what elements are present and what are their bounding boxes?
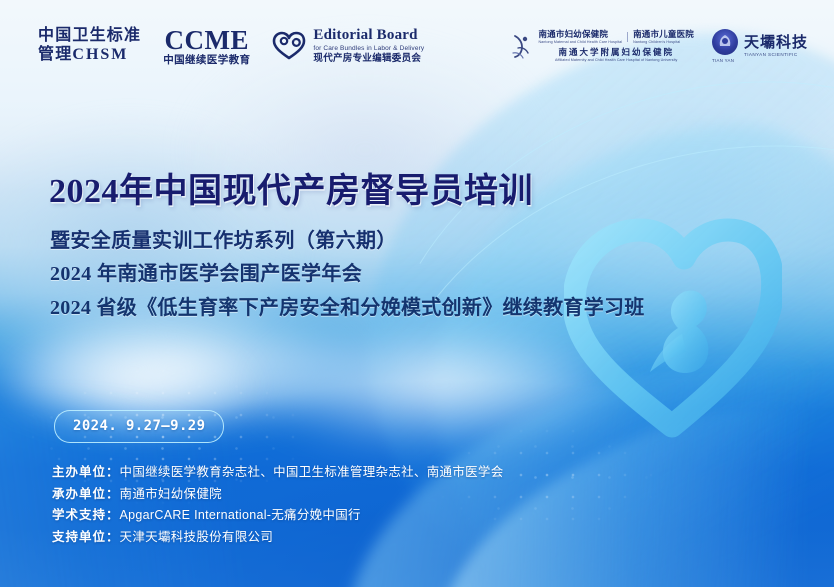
poster-subtitle-3: 2024 省级《低生育率下产房安全和分娩模式创新》继续教育学习班 [50, 291, 645, 320]
conference-poster: 中国卫生标准 管理CHSM CCME 中国继续医学教育 [0, 0, 834, 587]
credit-label: 学术支持： [52, 505, 120, 527]
credit-row-academic-support: 学术支持： ApgarCARE International-无痛分娩中国行 [52, 505, 504, 527]
credit-row-host: 承办单位： 南通市妇幼保健院 [52, 484, 504, 506]
poster-subtitle-1: 暨安全质量实训工作坊系列（第六期） [50, 224, 397, 253]
credit-value: ApgarCARE International-无痛分娩中国行 [120, 505, 361, 527]
credit-row-supporting-unit: 支持单位： 天津天壩科技股份有限公司 [52, 527, 504, 549]
credit-value: 中国继续医学教育杂志社、中国卫生标准管理杂志社、南通市医学会 [120, 462, 504, 484]
credit-label: 支持单位： [52, 527, 120, 549]
credit-value: 南通市妇幼保健院 [120, 484, 222, 506]
poster-content: 2024年中国现代产房督导员培训 暨安全质量实训工作坊系列（第六期） 2024 … [0, 0, 834, 587]
credit-row-organizer: 主办单位： 中国继续医学教育杂志社、中国卫生标准管理杂志社、南通市医学会 [52, 462, 504, 484]
credit-label: 主办单位： [52, 462, 120, 484]
credits-block: 主办单位： 中国继续医学教育杂志社、中国卫生标准管理杂志社、南通市医学会 承办单… [52, 462, 504, 548]
credit-label: 承办单位： [52, 484, 120, 506]
poster-title: 2024年中国现代产房督导员培训 [49, 163, 533, 212]
poster-subtitle-2: 2024 年南通市医学会围产医学年会 [50, 257, 362, 286]
credit-value: 天津天壩科技股份有限公司 [120, 527, 274, 549]
event-date-badge: 2024. 9.27—9.29 [54, 410, 224, 443]
